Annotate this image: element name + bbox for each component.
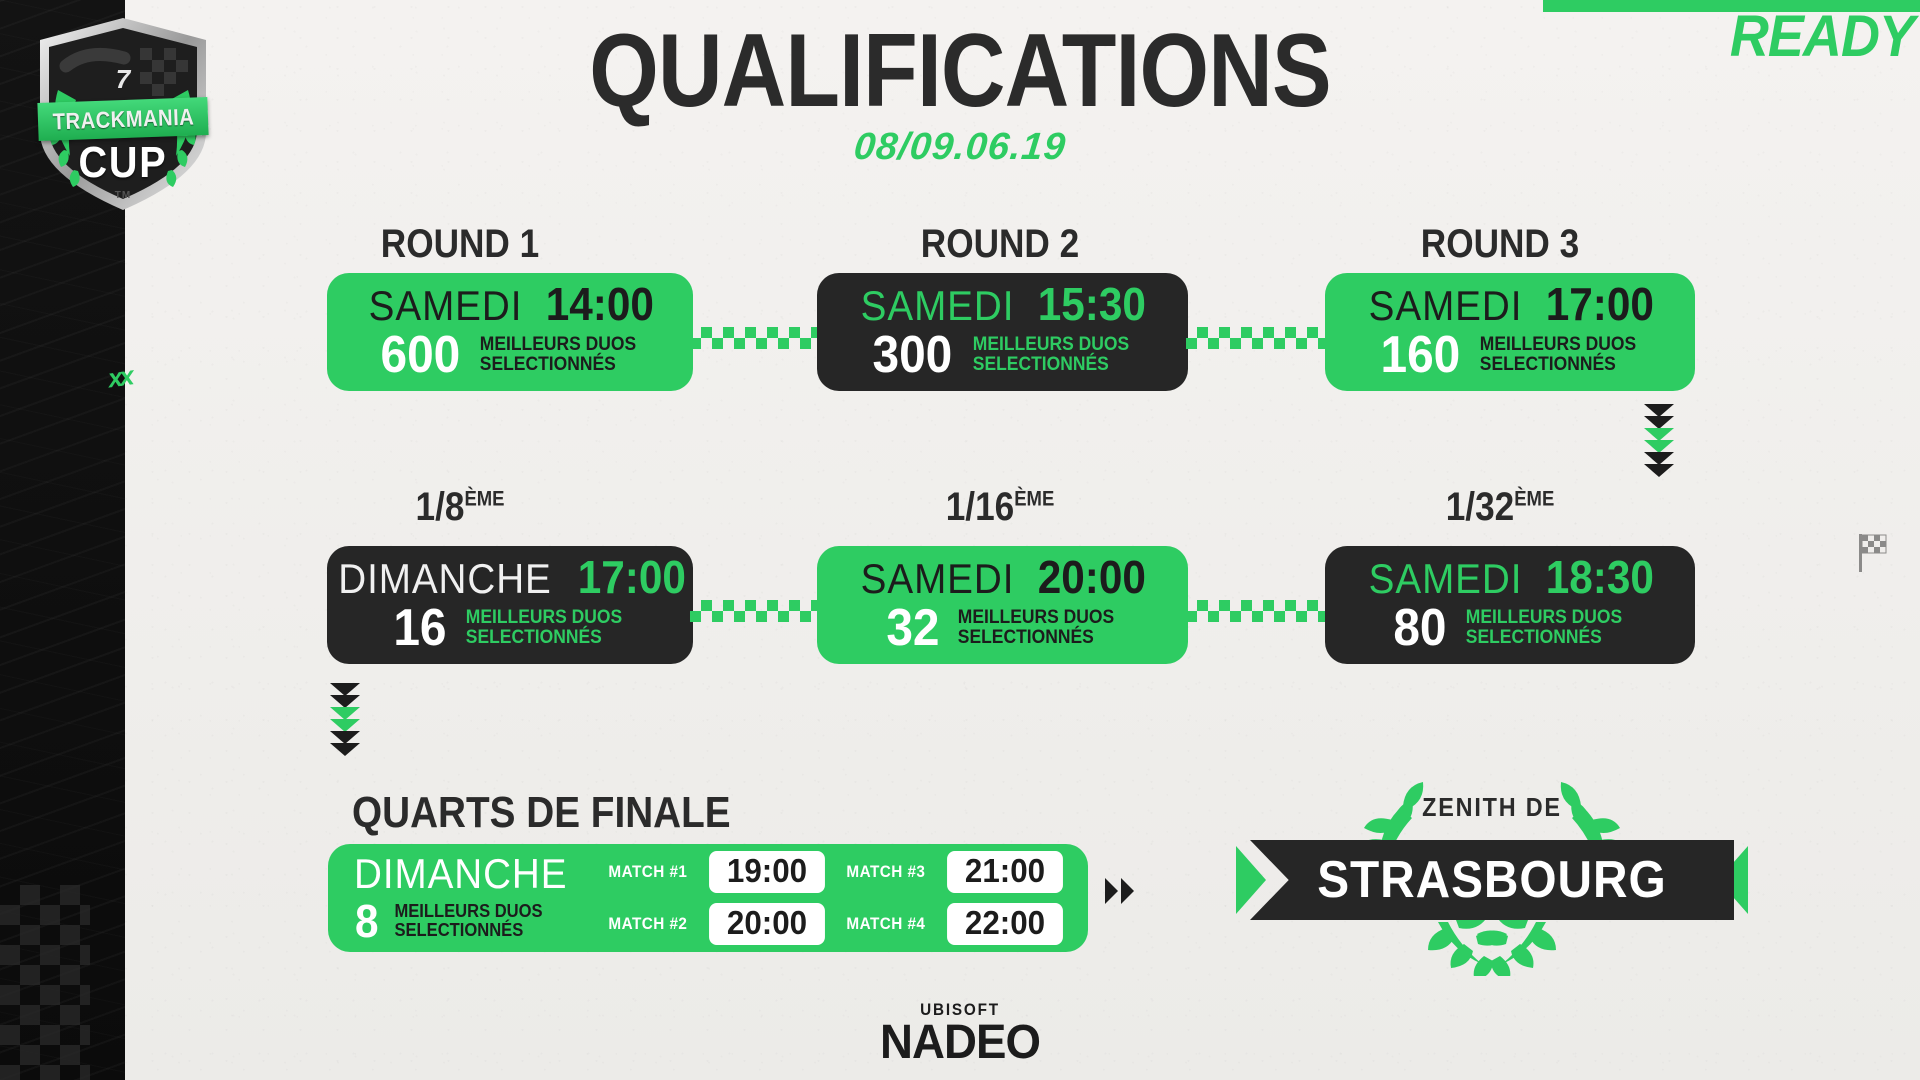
- qualif-line-1: MEILLEURS DUOS: [480, 334, 636, 355]
- stage-card-qualifiers: 80 MEILLEURS DUOS SELECTIONNÉS: [1347, 602, 1673, 654]
- stage-day: SAMEDI: [368, 285, 522, 327]
- qualif-line-1: MEILLEURS DUOS: [1466, 607, 1622, 628]
- checkered-flag-icon: [1852, 530, 1892, 574]
- stage-heading-thirtysecond: 1/32ÈME: [1342, 485, 1659, 530]
- venue-city: STRASBOURG: [1317, 850, 1666, 910]
- stage-qualif-label: MEILLEURS DUOS SELECTIONNÉS: [1466, 608, 1622, 648]
- stage-qualif-label: MEILLEURS DUOS SELECTIONNÉS: [480, 335, 636, 375]
- stage-card-qualifiers: 160 MEILLEURS DUOS SELECTIONNÉS: [1347, 329, 1673, 381]
- quarter-finals-qualifiers: 8 MEILLEURS DUOS SELECTIONNÉS: [354, 898, 586, 944]
- stage-time: 14:00: [545, 281, 653, 327]
- stage-card-qualifiers: 300 MEILLEURS DUOS SELECTIONNÉS: [839, 329, 1166, 381]
- quarter-finals-day: DIMANCHE: [354, 853, 567, 895]
- match-label-3: MATCH #3: [846, 862, 925, 882]
- stage-day: SAMEDI: [1368, 285, 1522, 327]
- connector-round1-round2: [690, 327, 817, 349]
- stage-heading-eighth: 1/8ÈME: [302, 485, 619, 530]
- chevron-down-icon: [1644, 464, 1674, 477]
- page-title: QUALIFICATIONS: [134, 24, 1785, 120]
- connector-round3-to-32: [1644, 404, 1674, 476]
- match-time-4[interactable]: 22:00: [947, 903, 1063, 945]
- studio-name: NADEO: [48, 1020, 1872, 1066]
- stage-card-schedule: DIMANCHE 17:00: [349, 554, 671, 600]
- stage-count: 300: [873, 329, 953, 381]
- connector-sixteenth-eighth: [690, 600, 817, 622]
- stage-heading-text: ROUND 3: [1421, 222, 1579, 266]
- stage-time: 15:30: [1038, 281, 1146, 327]
- qualif-line-1: MEILLEURS DUOS: [466, 607, 622, 628]
- stage-qualif-label: MEILLEURS DUOS SELECTIONNÉS: [1480, 335, 1636, 375]
- stage-time: 20:00: [1038, 554, 1146, 600]
- qualif-line-2: SELECTIONNÉS: [1480, 354, 1616, 375]
- quarter-finals-count: 8: [355, 898, 379, 944]
- stage-heading-sup: ÈME: [1514, 488, 1554, 511]
- qualif-line-1: MEILLEURS DUOS: [973, 334, 1129, 355]
- stage-time: 18:30: [1545, 554, 1653, 600]
- quarter-finals-card[interactable]: DIMANCHE 8 MEILLEURS DUOS SELECTIONNÉS M…: [328, 844, 1088, 952]
- qualif-line-1: MEILLEURS DUOS: [394, 901, 542, 921]
- xx-doodle: xx: [106, 363, 132, 392]
- stage-time: 17:00: [578, 554, 686, 600]
- event-date: 08/09.06.19: [0, 126, 1920, 169]
- ribbon-tail-left-icon: [1236, 846, 1266, 914]
- stage-heading-round-3: ROUND 3: [1342, 222, 1659, 267]
- stage-heading-round-1: ROUND 1: [302, 222, 619, 267]
- match-label-1: MATCH #1: [608, 862, 687, 882]
- venue-banner: ZENITH DE STRASBOURG: [1232, 766, 1752, 976]
- qualif-line-1: MEILLEURS DUOS: [958, 607, 1114, 628]
- qualif-line-2: SELECTIONNÉS: [973, 354, 1109, 375]
- chevron-right-icon: [1121, 878, 1134, 904]
- chevron-right-icon: [1105, 878, 1118, 904]
- stage-card-qualifiers: 32 MEILLEURS DUOS SELECTIONNÉS: [839, 602, 1166, 654]
- stage-qualif-label: MEILLEURS DUOS SELECTIONNÉS: [958, 608, 1114, 648]
- stage-heading-sixteenth: 1/16ÈME: [842, 485, 1159, 530]
- quarter-finals-heading: QUARTS DE FINALE: [352, 788, 731, 838]
- qualif-line-2: SELECTIONNÉS: [480, 354, 616, 375]
- stage-card-schedule: SAMEDI 18:30: [1347, 554, 1673, 600]
- quarter-finals-match-grid: MATCH #1 19:00 MATCH #3 21:00 MATCH #2 2…: [604, 851, 1066, 945]
- venue-ribbon-label: STRASBOURG: [1272, 840, 1712, 920]
- stage-heading-text: 1/8: [416, 485, 465, 529]
- quarter-finals-qualif-label: MEILLEURS DUOS SELECTIONNÉS: [394, 902, 542, 940]
- match-label-4: MATCH #4: [846, 914, 925, 934]
- match-time-3[interactable]: 21:00: [947, 851, 1063, 893]
- qualif-line-2: SELECTIONNÉS: [394, 920, 523, 940]
- poster-background: xx READY 7: [0, 0, 1920, 1080]
- match-label-2: MATCH #2: [608, 914, 687, 934]
- stage-card-schedule: SAMEDI 15:30: [839, 281, 1166, 327]
- connector-quarters-to-venue: [1105, 878, 1134, 904]
- qualif-line-2: SELECTIONNÉS: [466, 627, 602, 648]
- logo-tm-text: TM: [28, 190, 218, 201]
- stage-heading-round-2: ROUND 2: [842, 222, 1159, 267]
- venue-prefix: ZENITH DE: [1258, 792, 1726, 823]
- connector-eighth-to-quarters: [330, 683, 360, 755]
- stage-card-eighth[interactable]: DIMANCHE 17:00 16 MEILLEURS DUOS SELECTI…: [327, 546, 693, 664]
- stage-heading-text: ROUND 1: [381, 222, 539, 266]
- stage-qualif-label: MEILLEURS DUOS SELECTIONNÉS: [466, 608, 622, 648]
- stage-count: 16: [393, 602, 446, 654]
- stage-card-round-3[interactable]: SAMEDI 17:00 160 MEILLEURS DUOS SELECTIO…: [1325, 273, 1695, 391]
- stage-heading-text: 1/32: [1446, 485, 1515, 529]
- connector-round2-round3: [1186, 327, 1328, 349]
- stage-card-schedule: SAMEDI 20:00: [839, 554, 1166, 600]
- stage-time: 17:00: [1545, 281, 1653, 327]
- stage-qualif-label: MEILLEURS DUOS SELECTIONNÉS: [973, 335, 1129, 375]
- stage-count: 80: [1393, 602, 1446, 654]
- stage-card-qualifiers: 600 MEILLEURS DUOS SELECTIONNÉS: [349, 329, 671, 381]
- stage-heading-sup: ÈME: [1014, 488, 1054, 511]
- stage-heading-sup: ÈME: [464, 488, 504, 511]
- stage-card-round-1[interactable]: SAMEDI 14:00 600 MEILLEURS DUOS SELECTIO…: [327, 273, 693, 391]
- footer: UBISOFT NADEO: [0, 1000, 1920, 1066]
- stage-day: DIMANCHE: [338, 558, 551, 600]
- stage-card-schedule: SAMEDI 17:00: [1347, 281, 1673, 327]
- stage-heading-text: 1/16: [946, 485, 1015, 529]
- stage-card-sixteenth[interactable]: SAMEDI 20:00 32 MEILLEURS DUOS SELECTION…: [817, 546, 1188, 664]
- chevron-down-icon: [330, 743, 360, 756]
- stage-card-round-2[interactable]: SAMEDI 15:30 300 MEILLEURS DUOS SELECTIO…: [817, 273, 1188, 391]
- qualif-line-2: SELECTIONNÉS: [1466, 627, 1602, 648]
- stage-card-schedule: SAMEDI 14:00: [349, 281, 671, 327]
- stage-day: SAMEDI: [861, 285, 1015, 327]
- match-time-1[interactable]: 19:00: [709, 851, 825, 893]
- qualif-line-2: SELECTIONNÉS: [958, 627, 1094, 648]
- quarter-finals-schedule: DIMANCHE 8 MEILLEURS DUOS SELECTIONNÉS: [354, 853, 586, 944]
- stage-count: 160: [1380, 329, 1460, 381]
- stage-heading-text: ROUND 2: [921, 222, 1079, 266]
- stage-card-thirtysecond[interactable]: SAMEDI 18:30 80 MEILLEURS DUOS SELECTION…: [1325, 546, 1695, 664]
- stage-card-qualifiers: 16 MEILLEURS DUOS SELECTIONNÉS: [349, 602, 671, 654]
- match-time-2[interactable]: 20:00: [709, 903, 825, 945]
- stage-count: 600: [380, 329, 460, 381]
- stage-count: 32: [886, 602, 939, 654]
- qualif-line-1: MEILLEURS DUOS: [1480, 334, 1636, 355]
- connector-thirtysecond-sixteenth: [1186, 600, 1328, 622]
- stage-day: SAMEDI: [861, 558, 1015, 600]
- stage-day: SAMEDI: [1368, 558, 1522, 600]
- svg-text:7: 7: [116, 64, 132, 94]
